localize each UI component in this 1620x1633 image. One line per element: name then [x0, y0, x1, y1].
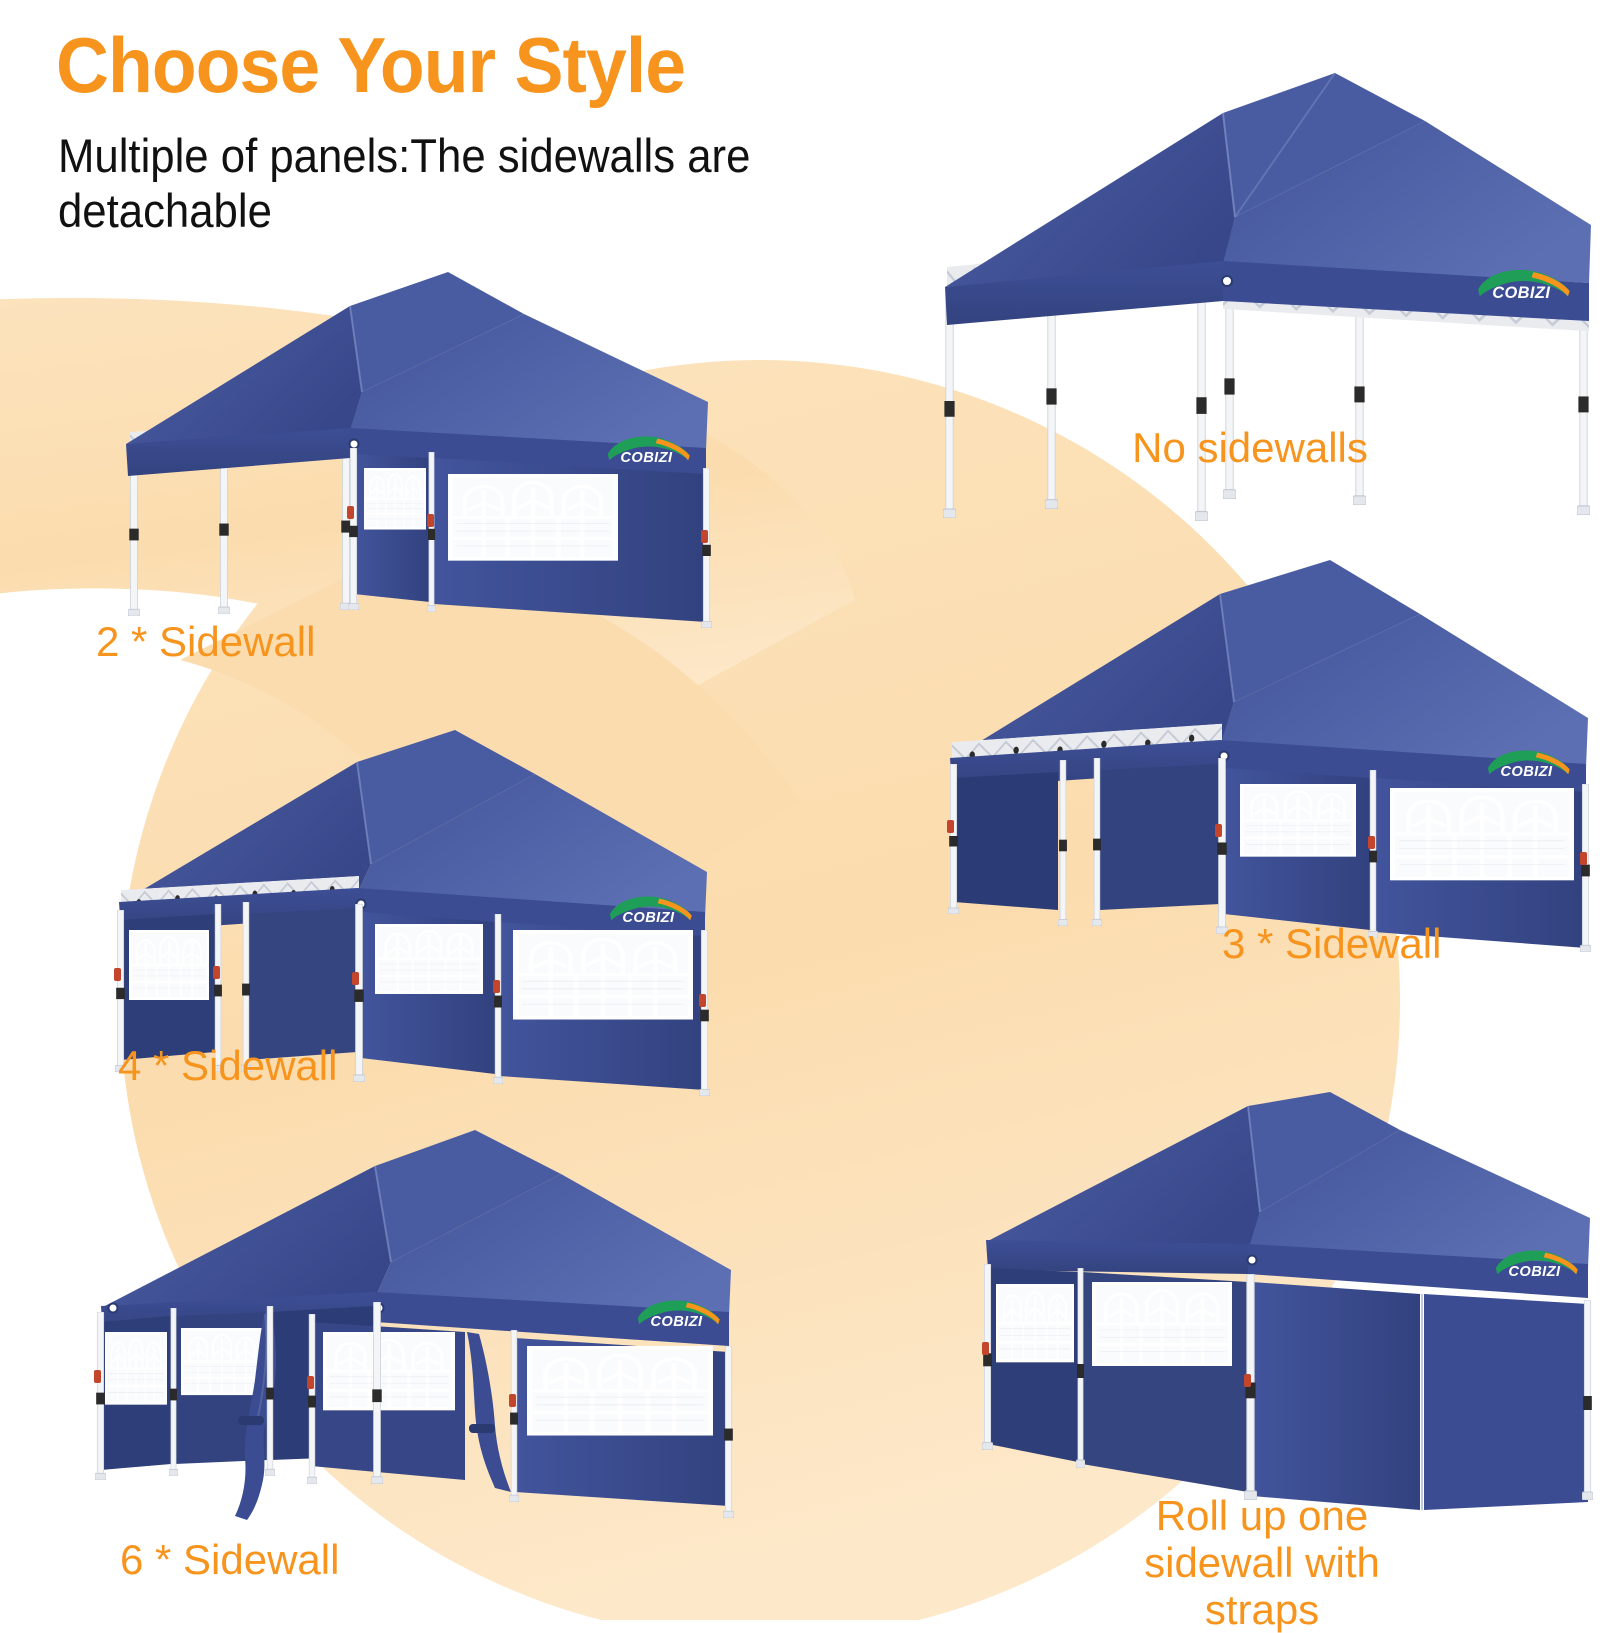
sidewall-panel [515, 1338, 729, 1506]
caption-4-sidewall: 4 * Sidewall [118, 1042, 337, 1089]
sidewall-panel [247, 908, 357, 1060]
sidewall-panel [1424, 1294, 1588, 1510]
sidewall-panel [101, 1316, 171, 1470]
caption-3-sidewall: 3 * Sidewall [1222, 920, 1441, 967]
caption-roll-up-sidewall: Roll up one sidewall with straps [1092, 1492, 1432, 1633]
sidewall-panel [1100, 764, 1220, 910]
sidewall-panel [1224, 768, 1370, 930]
sidewall-curtain-tied [467, 1332, 511, 1492]
caption-no-sidewalls: No sidewalls [1120, 424, 1380, 471]
caption-2-sidewall: 2 * Sidewall [96, 618, 315, 665]
tent-figure-6-sidewall [75, 1108, 755, 1548]
page-title: Choose Your Style [56, 28, 685, 102]
sidewall-panel [988, 1268, 1078, 1462]
infographic-canvas: COBIZI [0, 0, 1620, 1620]
sidewall-panel [354, 454, 430, 602]
page-subtitle: Multiple of panels:The sidewalls are det… [58, 128, 765, 239]
sidewall-panel [954, 772, 1058, 910]
sidewall-panel [1082, 1272, 1248, 1492]
sidewall-panel [361, 912, 495, 1074]
sidewall-panel [1252, 1282, 1420, 1510]
caption-6-sidewall: 6 * Sidewall [120, 1536, 339, 1583]
sidewall-panel [499, 922, 705, 1090]
sidewall-panel [311, 1322, 465, 1480]
tent-figure-roll-up-sidewall [930, 1092, 1600, 1522]
sidewall-panel [121, 914, 215, 1060]
sidewall-panel [434, 458, 706, 622]
tent-figure-3-sidewall [920, 552, 1610, 962]
tent-figure-2-sidewall [100, 262, 740, 632]
